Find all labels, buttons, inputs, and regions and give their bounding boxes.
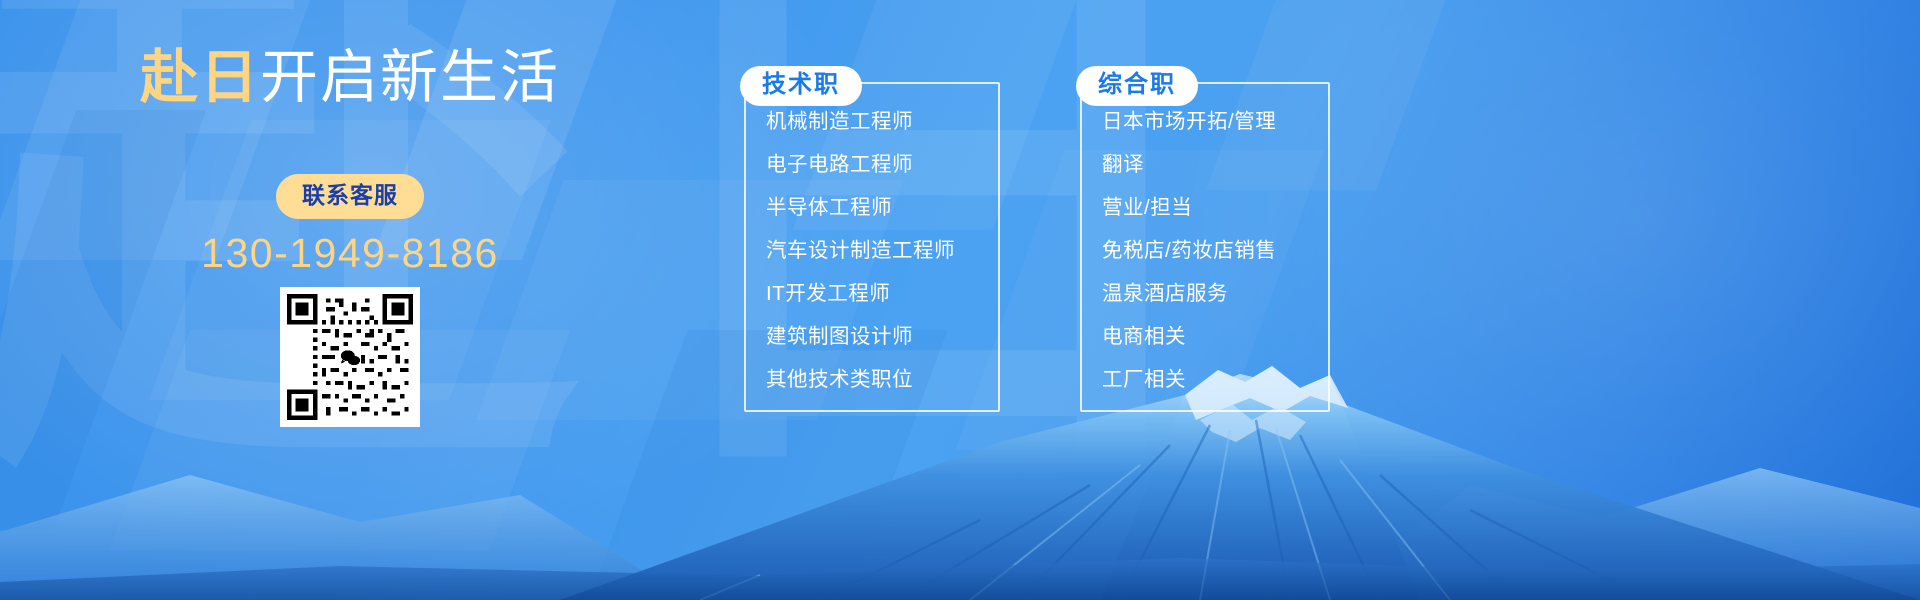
list-item[interactable]: 汽车设计制造工程师 [766,241,955,262]
list-item[interactable]: 免税店/药妆店销售 [1102,241,1276,262]
wechat-qr-code[interactable] [280,287,420,427]
list-item[interactable]: 温泉酒店服务 [1102,284,1276,305]
page-title: 赴日开启新生活 [0,48,700,109]
list-item[interactable]: 日本市场开拓/管理 [1102,112,1276,133]
list-item[interactable]: 机械制造工程师 [766,112,955,133]
list-item[interactable]: 电子电路工程师 [766,155,955,176]
job-list-tech: 机械制造工程师 电子电路工程师 半导体工程师 汽车设计制造工程师 IT开发工程师… [766,112,955,413]
job-category-badge-tech[interactable]: 技术职 [740,66,862,106]
list-item[interactable]: 工厂相关 [1102,370,1276,391]
list-item[interactable]: 其他技术类职位 [766,370,955,391]
list-item[interactable]: 半导体工程师 [766,198,955,219]
list-item[interactable]: 翻译 [1102,155,1276,176]
qr-code-icon [287,294,413,420]
list-item[interactable]: 电商相关 [1102,327,1276,348]
contact-support-button[interactable]: 联系客服 [276,174,424,219]
list-item[interactable]: 营业/担当 [1102,198,1276,219]
headline-rest-text: 开启新生活 [260,45,560,110]
list-item[interactable]: 建筑制图设计师 [766,327,955,348]
promo-banner: 赴日 [0,0,1920,600]
headline-accent-text: 赴日 [140,45,260,110]
job-category-badge-general[interactable]: 综合职 [1076,66,1198,106]
list-item[interactable]: IT开发工程师 [766,284,955,305]
job-list-general: 日本市场开拓/管理 翻译 营业/担当 免税店/药妆店销售 温泉酒店服务 电商相关… [1102,112,1276,413]
phone-number[interactable]: 130-1949-8186 [0,230,700,277]
left-content-panel: 赴日开启新生活 联系客服 130-1949-8186 [0,0,700,600]
